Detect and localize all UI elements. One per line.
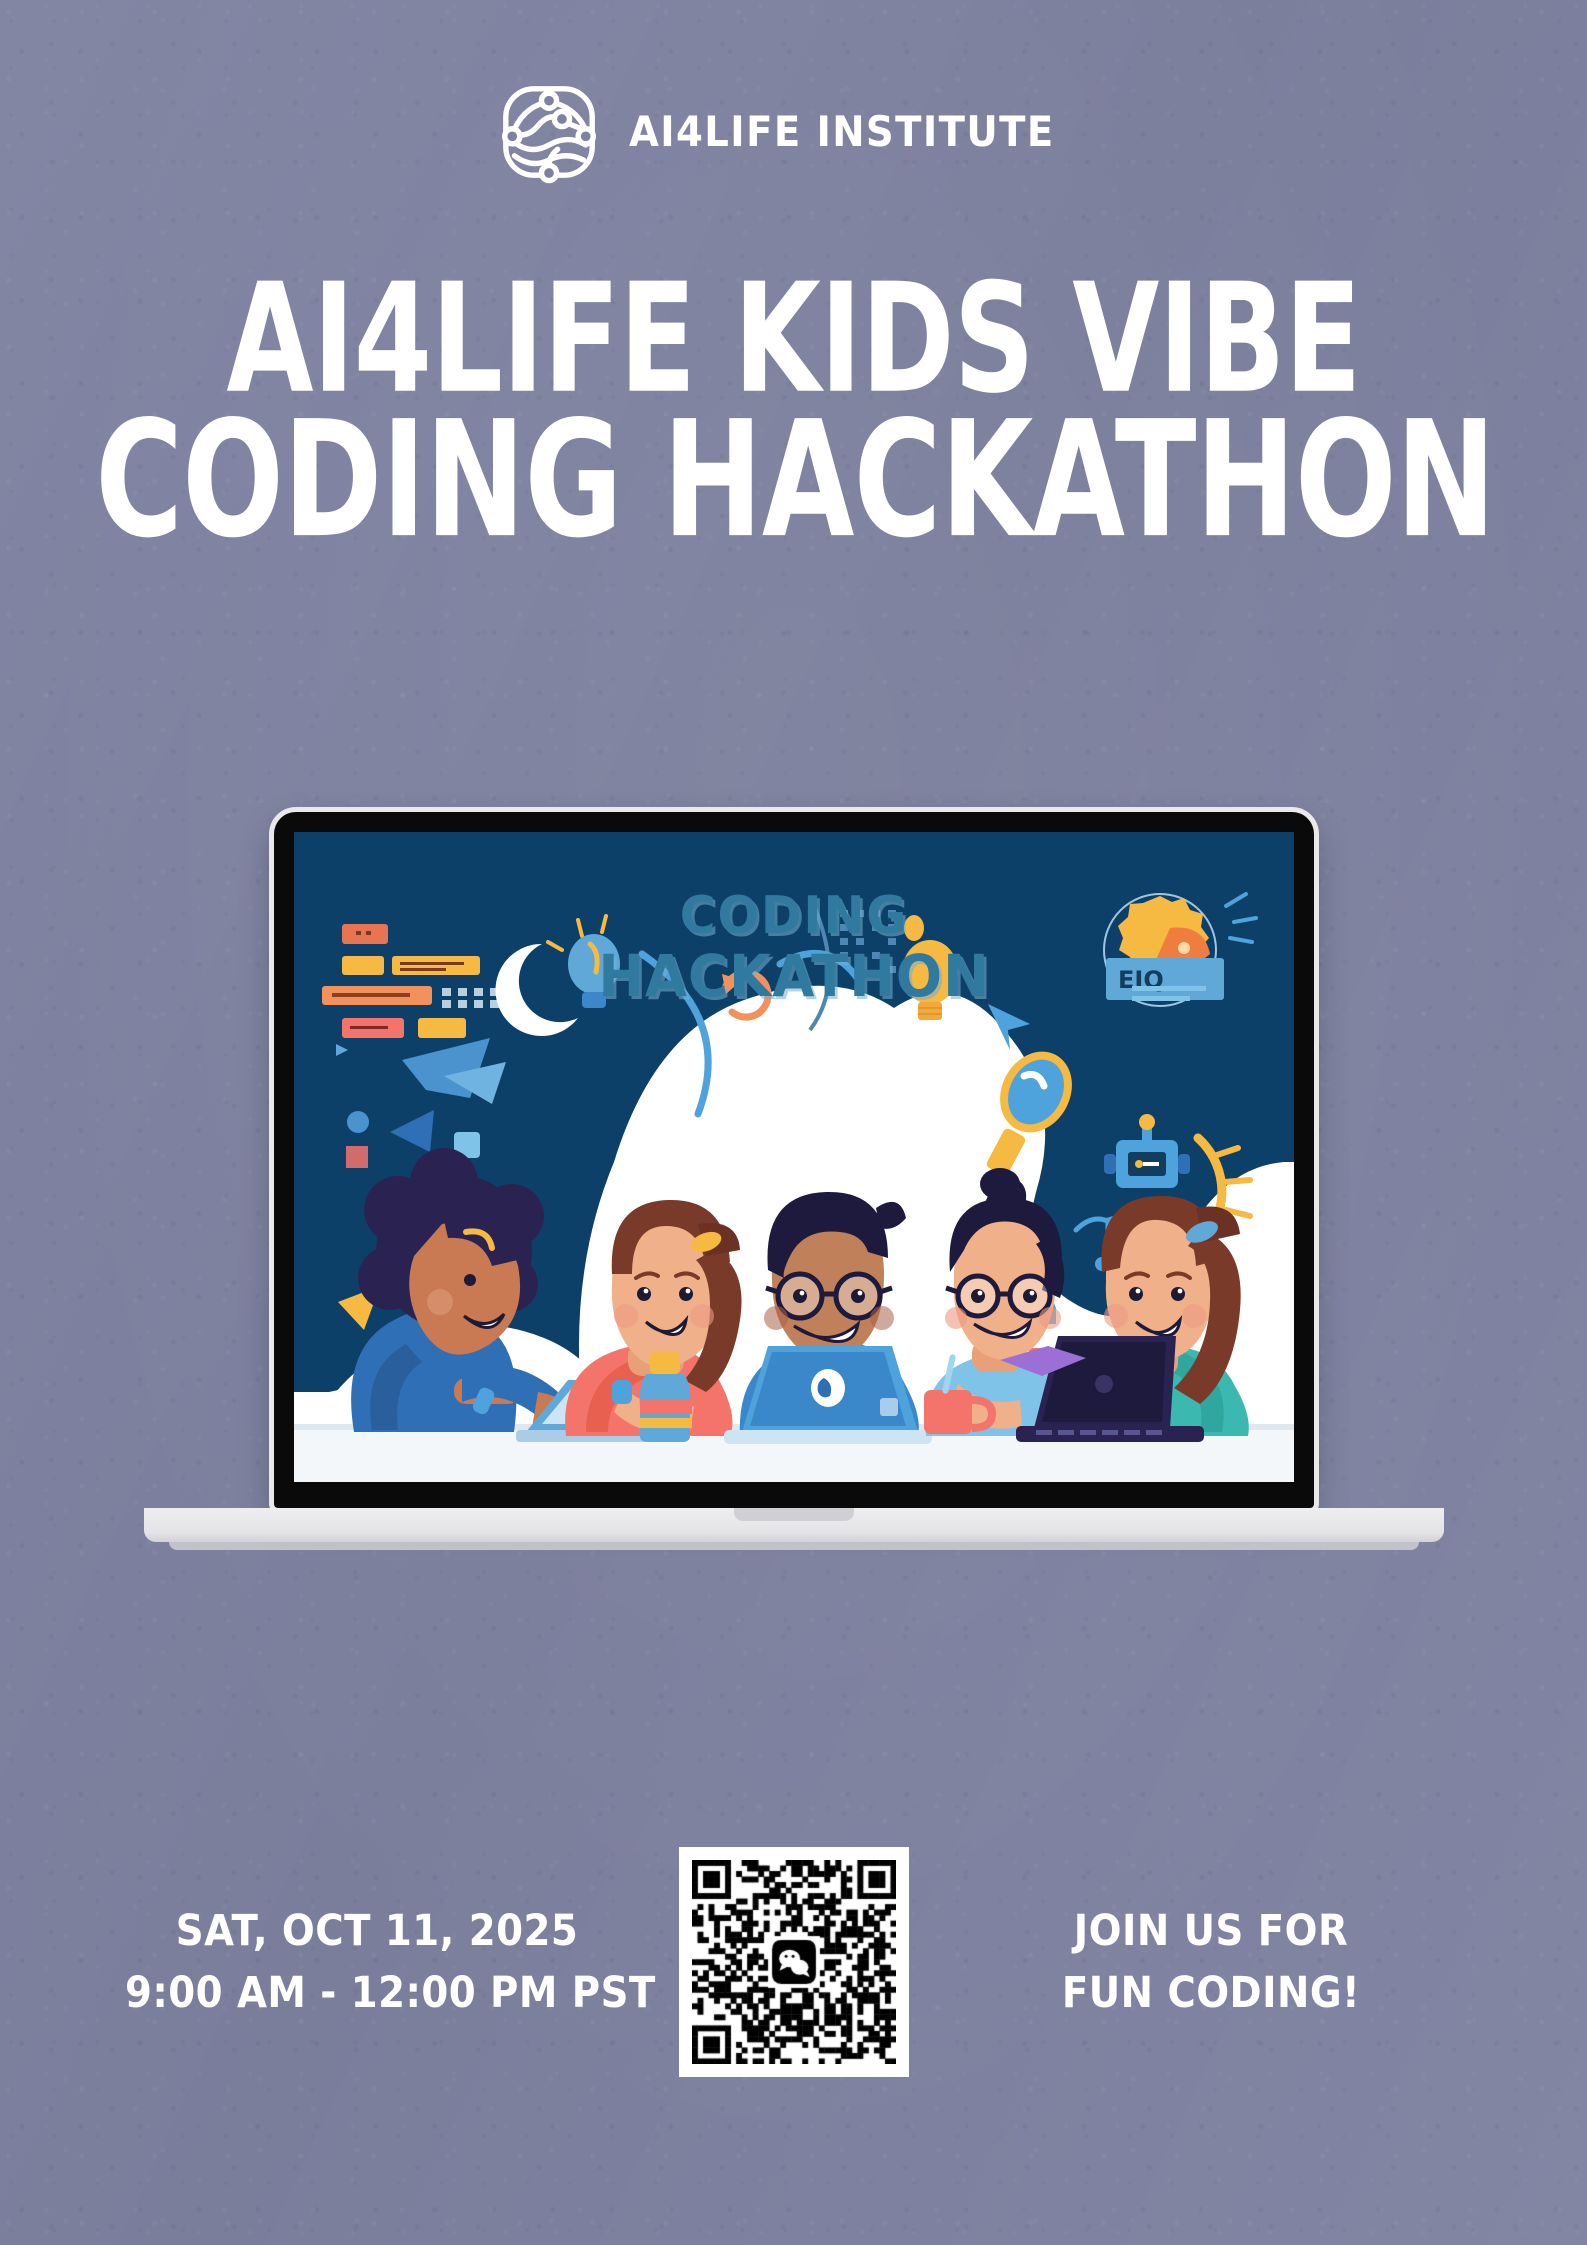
kid-3-laptop <box>724 1346 932 1444</box>
brand-header: AI4LIFE INSTITUTE <box>0 78 1587 186</box>
poster-canvas: AI4LIFE INSTITUTE AI4LIFE KIDS VIBE CODI… <box>0 0 1587 2245</box>
illustration-headline-line2: HACKATHON <box>598 947 989 1006</box>
illustration-headline: CODING HACKATHON <box>585 890 1001 1006</box>
brand-name: AI4LIFE INSTITUTE <box>629 111 1055 153</box>
laptop-notch <box>734 1508 854 1521</box>
title-line-2: CODING HACKATHON <box>95 404 1492 560</box>
event-datetime: SAT, OCT 11, 2025 9:00 AM - 12:00 PM PST <box>125 1900 629 2025</box>
wechat-qr-code-canvas[interactable] <box>692 1860 896 2064</box>
kid-3 <box>724 1192 932 1444</box>
laptop-screen: CODING HACKATHON <box>294 832 1294 1482</box>
event-cta: JOIN US FOR FUN CODING! <box>959 1900 1463 2025</box>
laptop-foot <box>169 1542 1419 1550</box>
network-brain-logo-icon <box>495 78 603 186</box>
laptop-base <box>144 1508 1444 1542</box>
page-title: AI4LIFE KIDS VIBE CODING HACKATHON <box>0 278 1587 548</box>
cta-line-1: JOIN US FOR <box>959 1900 1463 1962</box>
event-date: SAT, OCT 11, 2025 <box>125 1900 629 1962</box>
illustration-headline-line1: CODING <box>598 890 989 943</box>
laptop-lid: CODING HACKATHON <box>274 812 1314 1508</box>
cta-line-2: FUN CODING! <box>959 1962 1463 2024</box>
qr-code[interactable] <box>679 1847 909 2077</box>
poster-footer: SAT, OCT 11, 2025 9:00 AM - 12:00 PM PST… <box>0 1775 1587 2245</box>
event-time: 9:00 AM - 12:00 PM PST <box>125 1962 629 2024</box>
laptop-mockup: CODING HACKATHON <box>144 812 1444 1550</box>
